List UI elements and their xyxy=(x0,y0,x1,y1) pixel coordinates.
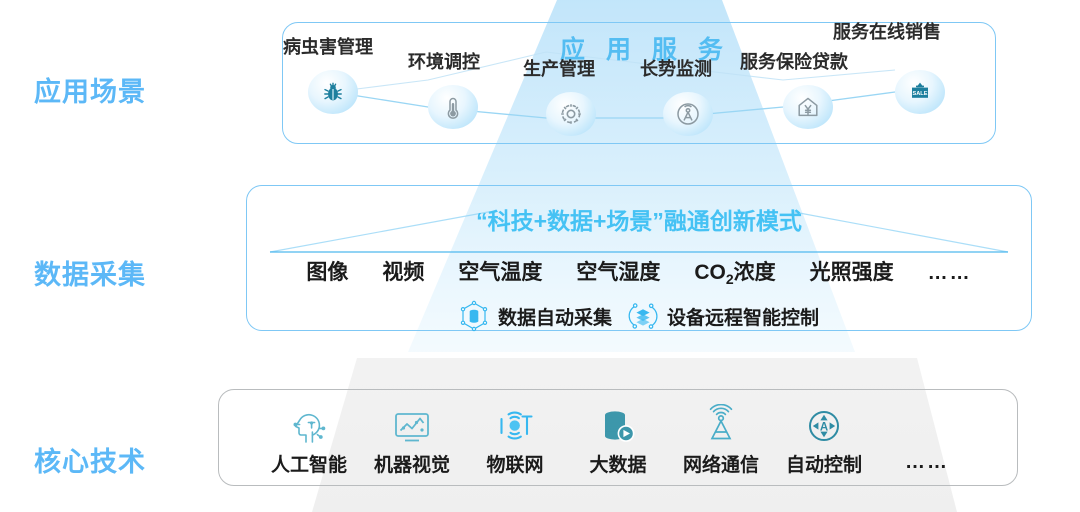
tech-ellipsis: …… xyxy=(884,451,970,475)
node-bubble: SALE xyxy=(895,70,945,114)
tech-label: 机器视觉 xyxy=(374,456,450,475)
data-collection-feature-list: 数据自动采集 设备远程智能控制 xyxy=(246,300,1032,332)
data-item-air-temp: 空气温度 xyxy=(458,256,542,286)
database-play-icon xyxy=(595,404,641,450)
tech-item-network-communication[interactable]: 网络通信 xyxy=(678,403,764,475)
data-item-image: 图像 xyxy=(306,256,348,286)
infographic-canvas: 应用场景 数据采集 核心技术 应 用 服 务 xyxy=(0,0,1080,512)
core-technology-item-list: 人工智能 机器视觉 xyxy=(218,392,1018,484)
node-caption: 服务在线销售 xyxy=(833,23,941,41)
house-yen-icon xyxy=(795,94,821,120)
node-bubble xyxy=(663,92,713,136)
rail-label-application-scenario: 应用场景 xyxy=(34,70,146,109)
node-bubble xyxy=(428,85,478,129)
signal-tower-icon xyxy=(675,101,701,127)
node-caption: 服务保险贷款 xyxy=(740,53,848,71)
gear-icon xyxy=(558,101,584,127)
node-caption: 病虫害管理 xyxy=(283,38,373,56)
tech-item-big-data[interactable]: 大数据 xyxy=(575,403,661,475)
data-item-air-humidity: 空气湿度 xyxy=(576,256,660,286)
database-network-icon xyxy=(459,300,489,332)
node-caption: 环境调控 xyxy=(408,53,480,71)
tech-label: 大数据 xyxy=(589,456,646,475)
monitor-chart-icon xyxy=(389,404,435,450)
feature-remote-device-control: 设备远程智能控制 xyxy=(628,300,819,332)
feature-label: 设备远程智能控制 xyxy=(667,303,819,330)
node-bubble xyxy=(308,70,358,114)
node-bubble xyxy=(783,85,833,129)
svg-text:SALE: SALE xyxy=(913,91,928,97)
data-item-co2-concentration: CO2浓度 xyxy=(694,256,775,287)
tech-item-machine-vision[interactable]: 机器视觉 xyxy=(369,403,455,475)
tech-label: 自动控制 xyxy=(786,456,862,475)
auto-control-icon: A xyxy=(801,404,847,450)
rail-label-core-technology: 核心技术 xyxy=(34,440,146,479)
thermometer-icon xyxy=(442,94,464,120)
svg-text:A: A xyxy=(820,421,828,433)
node-caption: 长势监测 xyxy=(640,60,712,78)
data-collection-item-list: 图像 视频 空气温度 空气湿度 CO2浓度 光照强度 …… xyxy=(246,256,1032,287)
data-item-light-intensity: 光照强度 xyxy=(810,256,894,286)
tech-label: 人工智能 xyxy=(271,456,347,475)
tech-item-automatic-control[interactable]: A 自动控制 xyxy=(781,403,867,475)
bug-icon xyxy=(321,80,345,104)
node-bubble xyxy=(546,92,596,136)
feature-auto-data-collection: 数据自动采集 xyxy=(459,300,612,332)
ai-head-icon xyxy=(286,404,332,450)
iot-icon xyxy=(492,404,538,450)
data-item-video: 视频 xyxy=(382,256,424,286)
feature-label: 数据自动采集 xyxy=(498,303,612,330)
rail-label-data-collection: 数据采集 xyxy=(34,253,146,292)
tech-item-iot[interactable]: 物联网 xyxy=(472,403,558,475)
antenna-waves-icon xyxy=(698,404,744,450)
node-caption: 生产管理 xyxy=(523,60,595,78)
data-collection-title: “科技+数据+场景”融通创新模式 xyxy=(246,202,1032,236)
layers-network-icon xyxy=(628,300,658,332)
tech-label: 网络通信 xyxy=(683,456,759,475)
sale-tag-icon: SALE xyxy=(907,79,933,105)
tech-label: 物联网 xyxy=(486,456,543,475)
tech-item-ai[interactable]: 人工智能 xyxy=(266,403,352,475)
data-item-ellipsis: …… xyxy=(928,262,972,285)
